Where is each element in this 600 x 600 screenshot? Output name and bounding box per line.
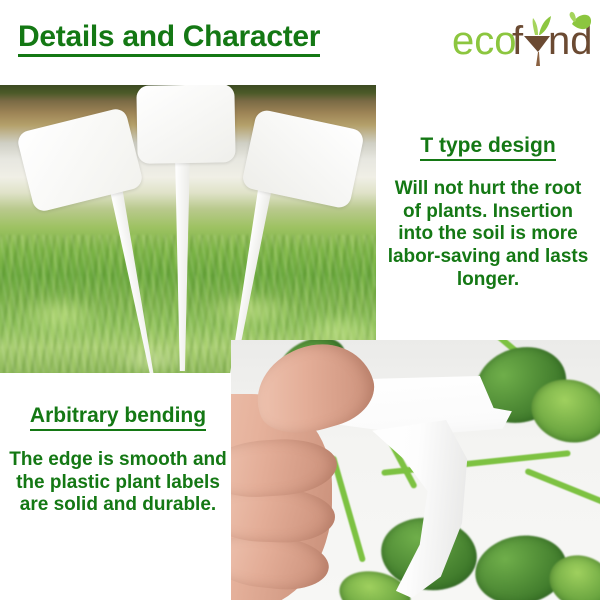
logo-text-f: f xyxy=(512,19,524,63)
feature-block-arbitrary-bending: Arbitrary bending The edge is smooth and… xyxy=(6,404,230,517)
ecofynd-logo-svg: eco f nd xyxy=(452,10,592,68)
sprout-icon xyxy=(524,16,551,66)
photo-t-type-labels-in-grass xyxy=(0,85,376,373)
white-separator xyxy=(0,373,232,405)
logo-text-eco: eco xyxy=(452,19,517,63)
hand xyxy=(231,354,387,600)
feature-heading-arbitrary-bending: Arbitrary bending xyxy=(30,404,206,431)
plant-label-head xyxy=(16,107,145,214)
plant-label-head xyxy=(136,85,235,164)
feature-block-t-type-design: T type design Will not hurt the root of … xyxy=(380,134,596,292)
plant-label-stem xyxy=(175,153,190,371)
poster-canvas: Details and Character eco f nd xyxy=(0,0,600,600)
plant-label-right xyxy=(230,113,376,373)
feature-heading-t-type-design: T type design xyxy=(420,134,555,161)
feature-body-arbitrary-bending: The edge is smooth and the plastic plant… xyxy=(6,449,230,517)
feature-body-t-type-design: Will not hurt the root of plants. Insert… xyxy=(380,178,596,292)
photo-hand-bending-label xyxy=(231,340,600,600)
brand-logo: eco f nd xyxy=(452,10,592,68)
page-title: Details and Character xyxy=(18,21,320,57)
